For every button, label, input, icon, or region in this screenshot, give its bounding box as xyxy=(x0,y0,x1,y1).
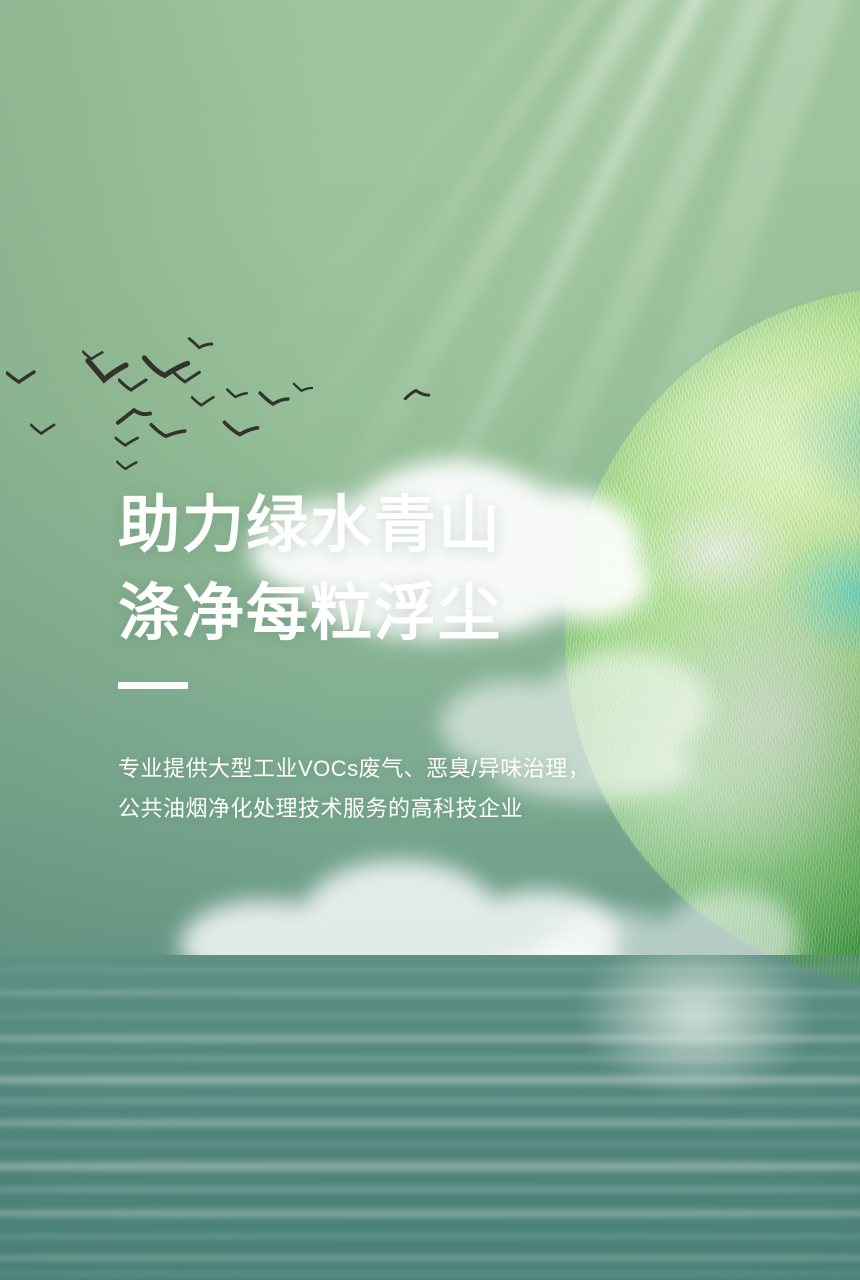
headline-line-2: 涤净每粒浮尘 xyxy=(118,570,678,658)
bird-icon xyxy=(226,388,249,400)
bird-icon xyxy=(404,389,431,403)
bird-icon xyxy=(188,337,215,351)
bird-icon xyxy=(115,435,140,448)
eco-hero-banner: 助力绿水青山 涤净每粒浮尘 专业提供大型工业VOCs废气、恶臭/异味治理， 公共… xyxy=(0,0,860,1280)
bird-icon xyxy=(142,353,191,380)
headline-line-1: 助力绿水青山 xyxy=(118,482,678,570)
subtitle-block: 专业提供大型工业VOCs废气、恶臭/异味治理， 公共油烟净化处理技术服务的高科技… xyxy=(118,749,678,829)
water-reflection-surface xyxy=(0,955,860,1280)
subtitle-line-2: 公共油烟净化处理技术服务的高科技企业 xyxy=(118,789,678,829)
bird-icon xyxy=(222,419,259,439)
water-wave-group xyxy=(0,955,860,1280)
bird-icon xyxy=(116,460,138,472)
bird-icon xyxy=(118,378,148,394)
divider-rule xyxy=(118,682,188,689)
bird-flock-group xyxy=(0,330,470,470)
subtitle-line-1: 专业提供大型工业VOCs废气、恶臭/异味治理， xyxy=(118,749,678,789)
bird-icon xyxy=(30,423,56,437)
bird-icon xyxy=(116,407,153,428)
bird-icon xyxy=(191,396,215,409)
hero-copy-block: 助力绿水青山 涤净每粒浮尘 专业提供大型工业VOCs废气、恶臭/异味治理， 公共… xyxy=(118,482,678,829)
bird-icon xyxy=(6,370,36,386)
bird-icon xyxy=(293,382,314,393)
bird-icon xyxy=(149,422,187,441)
bird-icon xyxy=(258,390,290,408)
